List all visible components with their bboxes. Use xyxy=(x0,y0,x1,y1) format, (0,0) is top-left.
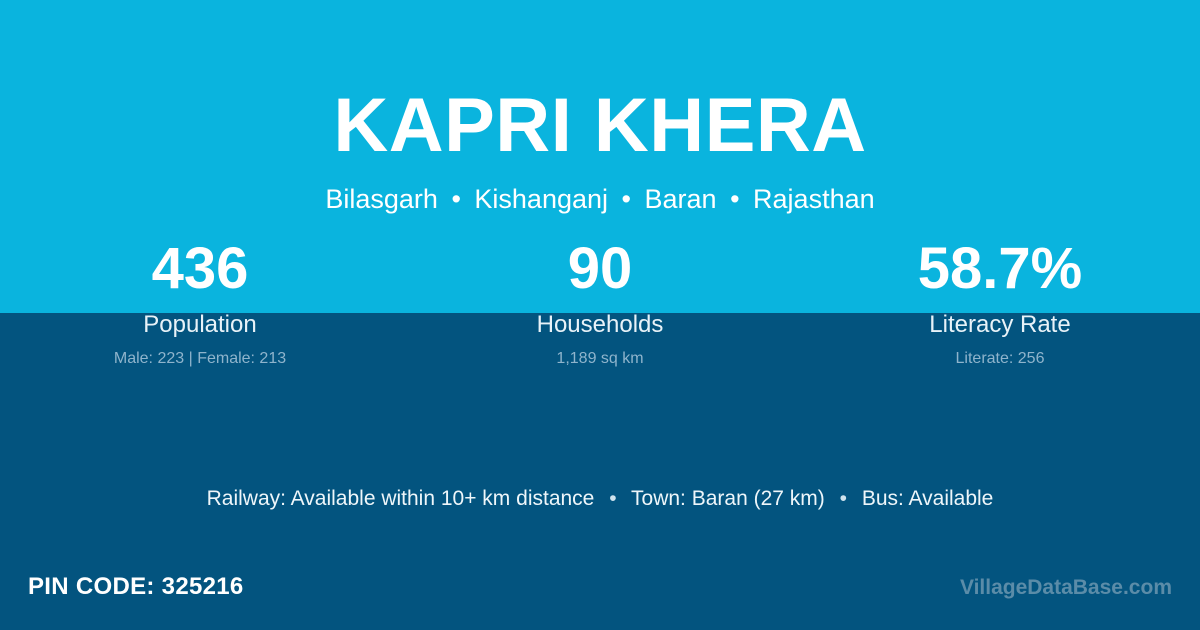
stat-households: 90 Households 1,189 sq km xyxy=(400,240,800,367)
breadcrumb-item-block: Kishanganj xyxy=(474,184,608,214)
stat-sub-households: 1,189 sq km xyxy=(400,351,800,367)
page-title: KAPRI KHERA xyxy=(0,88,1200,164)
infrastructure-separator: • xyxy=(600,487,625,510)
stat-value-population: 436 xyxy=(0,240,400,304)
stat-value-households: 90 xyxy=(400,240,800,304)
stat-sub-literacy-rate: Literate: 256 xyxy=(800,351,1200,367)
statistics-row: 436 Population Male: 223 | Female: 213 9… xyxy=(0,240,1200,367)
pin-code: PIN CODE: 325216 xyxy=(28,573,244,602)
breadcrumb-separator: • xyxy=(616,184,637,214)
infrastructure-separator: • xyxy=(831,487,856,510)
stat-value-literacy-rate: 58.7% xyxy=(800,240,1200,304)
breadcrumb: Bilasgarh • Kishanganj • Baran • Rajasth… xyxy=(0,183,1200,215)
infrastructure-line: Railway: Available within 10+ km distanc… xyxy=(0,486,1200,511)
village-info-card: KAPRI KHERA Bilasgarh • Kishanganj • Bar… xyxy=(0,0,1200,630)
stat-sub-population: Male: 223 | Female: 213 xyxy=(0,351,400,367)
card-footer: PIN CODE: 325216 VillageDataBase.com xyxy=(0,573,1200,613)
stat-label-households: Households xyxy=(400,313,800,337)
breadcrumb-item-village: Bilasgarh xyxy=(325,184,438,214)
stat-population: 436 Population Male: 223 | Female: 213 xyxy=(0,240,400,367)
breadcrumb-separator: • xyxy=(724,184,745,214)
site-brand: VillageDataBase.com xyxy=(960,575,1172,600)
breadcrumb-item-district: Baran xyxy=(645,184,717,214)
stat-label-population: Population xyxy=(0,313,400,337)
breadcrumb-separator: • xyxy=(445,184,466,214)
infrastructure-item-bus: Bus: Available xyxy=(862,487,994,510)
stat-label-literacy-rate: Literacy Rate xyxy=(800,313,1200,337)
infrastructure-item-town: Town: Baran (27 km) xyxy=(631,487,825,510)
breadcrumb-item-state: Rajasthan xyxy=(753,184,875,214)
infrastructure-item-railway: Railway: Available within 10+ km distanc… xyxy=(207,487,595,510)
stat-literacy-rate: 58.7% Literacy Rate Literate: 256 xyxy=(800,240,1200,367)
